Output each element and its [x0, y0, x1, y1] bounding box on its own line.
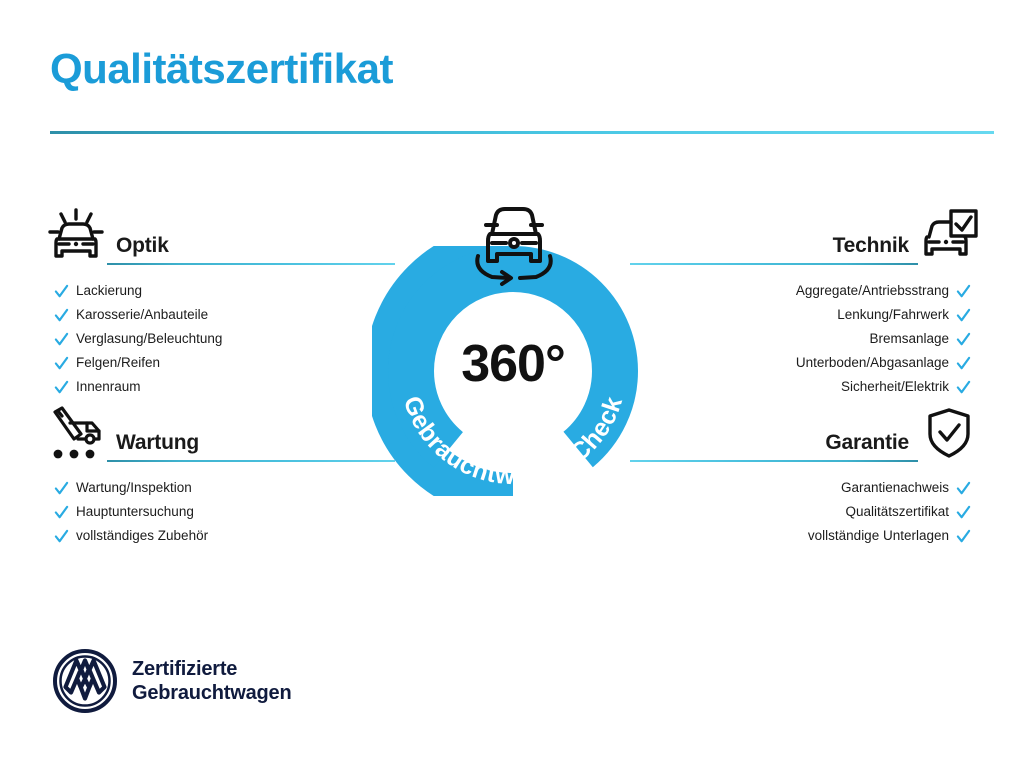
list-item: Felgen/Reifen [54, 351, 395, 375]
section-garantie: Garantie Garantienachweis Qualitätszerti… [630, 402, 980, 548]
check-icon [54, 284, 69, 299]
list-item-label: Aggregate/Antriebsstrang [796, 284, 949, 298]
list-item-label: Qualitätszertifikat [845, 505, 949, 519]
certificate-page: Qualitätszertifikat [0, 0, 1024, 768]
section-title-technik: Technik [630, 234, 918, 263]
check-icon [54, 380, 69, 395]
list-item-label: vollständiges Zubehör [76, 529, 208, 543]
list-item: Lenkung/Fahrwerk [630, 303, 971, 327]
check-icon [956, 332, 971, 347]
list-item: Wartung/Inspektion [54, 476, 395, 500]
list-item: vollständiges Zubehör [54, 524, 395, 548]
check-icon [54, 481, 69, 496]
section-wartung: Wartung Wartung/Inspektion Hauptuntersuc… [45, 402, 395, 548]
volkswagen-logo [52, 648, 118, 714]
list-item: Aggregate/Antriebsstrang [630, 279, 971, 303]
section-divider-garantie [630, 460, 918, 462]
check-icon [54, 505, 69, 520]
page-title: Qualitätszertifikat [50, 48, 393, 90]
check-icon [54, 356, 69, 371]
list-item-label: Felgen/Reifen [76, 356, 160, 370]
section-title-garantie: Garantie [630, 431, 918, 460]
list-item-label: Bremsanlage [869, 332, 949, 346]
shield-check-icon [918, 404, 980, 464]
list-item: vollständige Unterlagen [630, 524, 971, 548]
section-title-optik: Optik [107, 234, 395, 263]
list-item-label: Verglasung/Beleuchtung [76, 332, 222, 346]
list-item: Hauptuntersuchung [54, 500, 395, 524]
check-icon [956, 308, 971, 323]
checklist-optik: Lackierung Karosserie/Anbauteile Verglas… [54, 279, 395, 399]
list-item: Qualitätszertifikat [630, 500, 971, 524]
section-divider-wartung [107, 460, 395, 462]
badge-360-gebrauchtwagen-check: Gebrauchtwagen-Check 360° [372, 246, 654, 496]
footer-brand: Zertifizierte Gebrauchtwagen [52, 648, 291, 714]
check-icon [956, 380, 971, 395]
check-icon [54, 308, 69, 323]
list-item: Sicherheit/Elektrik [630, 375, 971, 399]
list-item-label: Sicherheit/Elektrik [841, 380, 949, 394]
list-item-label: Karosserie/Anbauteile [76, 308, 208, 322]
badge-center-label: 360° [372, 338, 654, 390]
list-item: Bremsanlage [630, 327, 971, 351]
pen-car-service-icon [45, 404, 107, 464]
list-item-label: Unterboden/Abgasanlage [796, 356, 949, 370]
car-checkbox-icon [918, 207, 980, 267]
list-item: Garantienachweis [630, 476, 971, 500]
section-title-wartung: Wartung [107, 431, 395, 460]
section-technik: Technik Aggregate/Antriebsstrang Lenkung… [630, 205, 980, 399]
section-divider-technik [630, 263, 918, 265]
list-item: Unterboden/Abgasanlage [630, 351, 971, 375]
list-item-label: Lackierung [76, 284, 142, 298]
header-divider [50, 131, 994, 134]
list-item-label: Garantienachweis [841, 481, 949, 495]
list-item-label: Innenraum [76, 380, 141, 394]
checklist-garantie: Garantienachweis Qualitätszertifikat vol… [630, 476, 971, 548]
checklist-wartung: Wartung/Inspektion Hauptuntersuchung vol… [54, 476, 395, 548]
car-shine-icon [45, 207, 107, 267]
list-item-label: Wartung/Inspektion [76, 481, 192, 495]
check-icon [956, 356, 971, 371]
list-item-label: Lenkung/Fahrwerk [837, 308, 949, 322]
list-item: Innenraum [54, 375, 395, 399]
footer-line-1: Zertifizierte [132, 657, 291, 681]
section-divider-optik [107, 263, 395, 265]
list-item: Karosserie/Anbauteile [54, 303, 395, 327]
list-item: Lackierung [54, 279, 395, 303]
list-item: Verglasung/Beleuchtung [54, 327, 395, 351]
check-icon [956, 481, 971, 496]
check-icon [956, 529, 971, 544]
check-icon [54, 529, 69, 544]
checklist-technik: Aggregate/Antriebsstrang Lenkung/Fahrwer… [630, 279, 971, 399]
list-item-label: vollständige Unterlagen [808, 529, 949, 543]
list-item-label: Hauptuntersuchung [76, 505, 194, 519]
check-icon [54, 332, 69, 347]
car-rotation-360-icon [464, 198, 564, 294]
check-icon [956, 505, 971, 520]
footer-line-2: Gebrauchtwagen [132, 681, 291, 705]
section-optik: Optik Lackierung Karosserie/Anbauteile V… [45, 205, 395, 399]
check-icon [956, 284, 971, 299]
